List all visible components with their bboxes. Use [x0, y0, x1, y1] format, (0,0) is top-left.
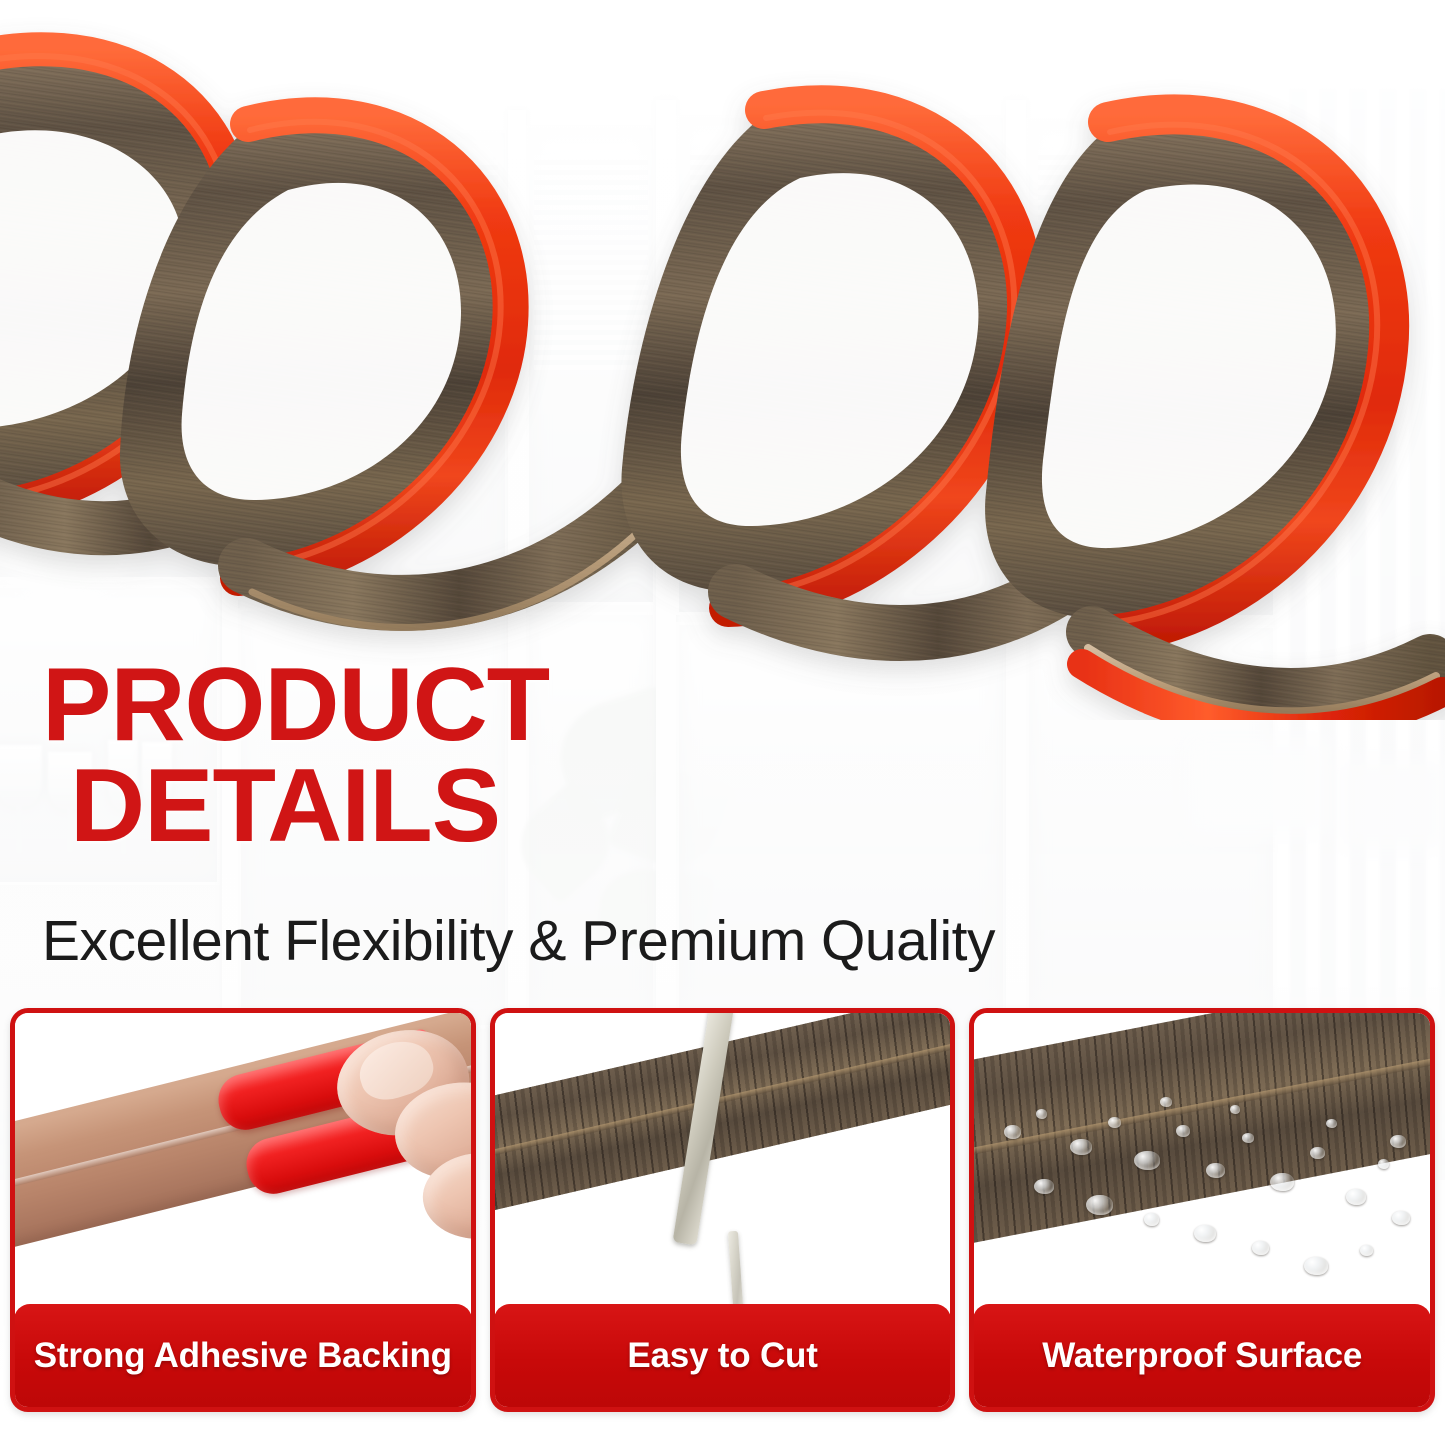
water-droplet — [1034, 1179, 1054, 1194]
feature-panel-waterproof[interactable]: Waterproof Surface — [969, 1008, 1435, 1412]
coil-loop-4 — [985, 110, 1399, 636]
coil-loop-3 — [621, 99, 1036, 608]
water-droplet — [1252, 1241, 1269, 1255]
water-droplet — [1326, 1119, 1337, 1128]
caption-label-waterproof: Waterproof Surface — [1042, 1336, 1362, 1376]
water-droplet — [1206, 1163, 1225, 1178]
water-droplet — [1346, 1189, 1366, 1205]
adhesive-backing-photo — [15, 1013, 471, 1313]
water-droplet — [1310, 1147, 1325, 1159]
easy-to-cut-photo — [495, 1013, 951, 1313]
wet-wood-grain-strip — [974, 1013, 1430, 1250]
water-droplet — [1378, 1159, 1389, 1169]
feature-panel-cut[interactable]: Easy to Cut — [490, 1008, 956, 1412]
feature-panel-row: Strong Adhesive Backing Easy to Cut — [10, 1008, 1435, 1412]
feature-panel-adhesive[interactable]: Strong Adhesive Backing — [10, 1008, 476, 1412]
water-droplet — [1160, 1097, 1172, 1107]
water-droplet — [1036, 1109, 1047, 1119]
scissors-blade-lower — [728, 1231, 744, 1313]
page-title: PRODUCT DETAILS — [42, 655, 1162, 857]
water-droplet — [1392, 1211, 1410, 1225]
water-droplet — [1360, 1245, 1373, 1256]
product-details-infographic: PRODUCT DETAILS Excellent Flexibility & … — [0, 0, 1445, 1445]
caption-bar-cut: Easy to Cut — [494, 1304, 952, 1408]
water-droplet — [1086, 1195, 1113, 1215]
water-droplet — [1242, 1133, 1254, 1143]
water-droplet — [1176, 1125, 1190, 1137]
water-droplet — [1390, 1135, 1406, 1148]
water-droplet — [1134, 1151, 1160, 1170]
water-droplet — [1304, 1257, 1328, 1275]
waterproof-surface-photo — [974, 1013, 1430, 1313]
caption-label-cut: Easy to Cut — [627, 1336, 817, 1376]
caption-bar-adhesive: Strong Adhesive Backing — [14, 1304, 472, 1408]
subtitle: Excellent Flexibility & Premium Quality — [42, 908, 995, 974]
water-droplet — [1070, 1139, 1092, 1155]
title-block: PRODUCT DETAILS — [42, 655, 1162, 857]
caption-bar-waterproof: Waterproof Surface — [973, 1304, 1431, 1408]
water-droplet — [1230, 1105, 1240, 1114]
water-droplet — [1108, 1117, 1121, 1128]
water-droplet — [1004, 1125, 1021, 1139]
coiled-edge-banding-tape-hero — [0, 0, 1445, 720]
water-droplet — [1194, 1225, 1216, 1242]
title-line-2: DETAILS — [70, 756, 1162, 857]
water-droplet — [1270, 1173, 1294, 1191]
title-line-1: PRODUCT — [42, 647, 549, 763]
water-droplet — [1144, 1213, 1159, 1226]
caption-label-adhesive: Strong Adhesive Backing — [34, 1336, 452, 1376]
